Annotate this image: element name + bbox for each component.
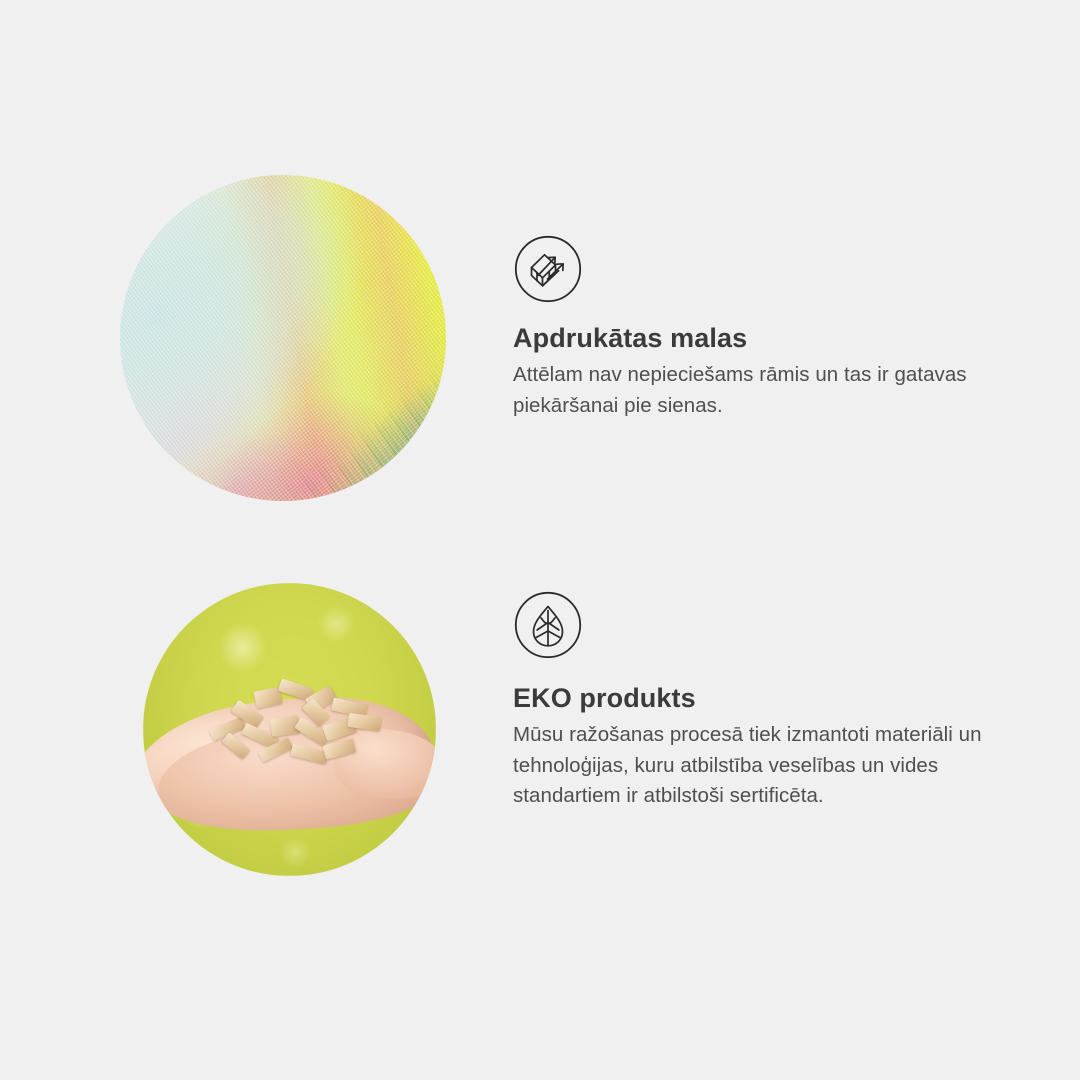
wood-chips xyxy=(198,681,401,783)
wood-chips-hands-photo xyxy=(143,583,436,876)
printed-edges-description: Attēlam nav nepieciešams rāmis un tas ir… xyxy=(513,360,1003,421)
printed-edges-text: Apdrukātas malas Attēlam nav nepieciešam… xyxy=(513,322,1003,421)
canvas-corner-photo xyxy=(120,175,446,501)
eco-product-description: Mūsu ražošanas procesā tiek izmantoti ma… xyxy=(513,720,1013,812)
product-feature-infographic: Apdrukātas malas Attēlam nav nepieciešam… xyxy=(0,0,1080,1080)
canvas-print xyxy=(120,175,446,501)
wood-chip xyxy=(322,738,355,759)
printed-edges-icon xyxy=(514,235,582,303)
printed-edges-title: Apdrukātas malas xyxy=(513,322,1003,354)
hands xyxy=(143,671,436,835)
leaf-icon xyxy=(514,591,582,659)
eco-product-title: EKO produkts xyxy=(513,682,1013,714)
eco-product-text: EKO produkts Mūsu ražošanas procesā tiek… xyxy=(513,682,1013,812)
